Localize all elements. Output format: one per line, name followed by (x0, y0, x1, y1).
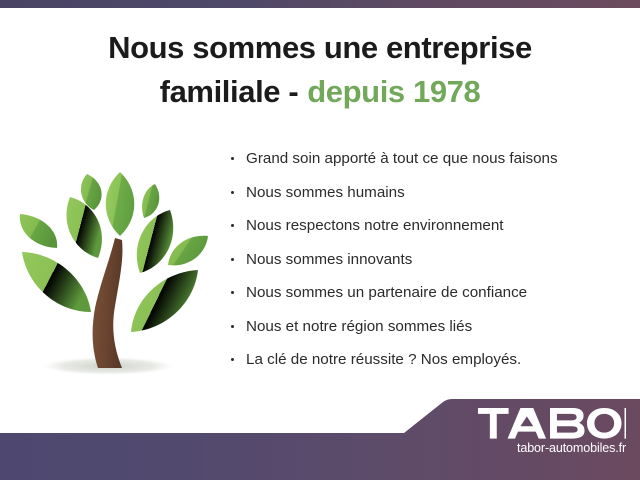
bullet-marker (231, 325, 234, 328)
footer-bar: tabor-automobiles.fr (0, 398, 640, 480)
tree-leaf-top-center (106, 172, 135, 236)
list-item-label: Nous sommes un partenaire de confiance (246, 284, 527, 301)
slide-root: Nous sommes une entreprise familiale -de… (0, 0, 640, 480)
headline-line-2: familiale -depuis 1978 (40, 70, 600, 114)
top-accent-strip (0, 0, 640, 8)
tree-leaf-far-right (168, 236, 208, 266)
list-item: Nous respectons notre environnement (228, 217, 628, 235)
page-title: Nous sommes une entreprise familiale -de… (40, 26, 600, 114)
list-item: Nous sommes un partenaire de confiance (228, 284, 628, 302)
list-item: La clé de notre réussite ? Nos employés. (228, 351, 628, 369)
list-item: Grand soin apporté à tout ce que nous fa… (228, 150, 628, 168)
bullet-marker (231, 224, 234, 227)
list-item-label: Nous sommes humains (246, 184, 405, 201)
list-item: Nous sommes humains (228, 184, 628, 202)
list-item-label: Nous et notre région sommes liés (246, 318, 472, 335)
list-item-label: Nous sommes innovants (246, 251, 412, 268)
tree-illustration (12, 152, 217, 387)
tree-leaf-far-left (20, 214, 57, 248)
headline-line-2-green: depuis 1978 (307, 74, 480, 109)
tabor-wordmark-icon (478, 408, 626, 439)
list-item-label: La clé de notre réussite ? Nos employés. (246, 351, 521, 368)
headline-line-1: Nous sommes une entreprise (40, 26, 600, 70)
list-item-label: Grand soin apporté à tout ce que nous fa… (246, 150, 558, 167)
list-item: Nous sommes innovants (228, 251, 628, 269)
bullet-marker (231, 191, 234, 194)
brand-logo[interactable]: tabor-automobiles.fr (464, 408, 626, 455)
benefits-list: Grand soin apporté à tout ce que nous fa… (228, 150, 628, 385)
bullet-marker (231, 358, 234, 361)
tree-leaf-top-right (142, 184, 159, 218)
list-item: Nous et notre région sommes liés (228, 318, 628, 336)
tree-leaf-upper-right (137, 210, 173, 273)
headline-line-2-dark: familiale - (160, 74, 299, 109)
tree-leaf-lower-left (22, 252, 91, 312)
tree-leaf-lower-right (131, 270, 198, 332)
list-item-label: Nous respectons notre environnement (246, 217, 504, 234)
brand-website[interactable]: tabor-automobiles.fr (464, 441, 626, 455)
bullet-marker (231, 258, 234, 261)
bullet-marker (231, 291, 234, 294)
bullet-marker (231, 157, 234, 160)
